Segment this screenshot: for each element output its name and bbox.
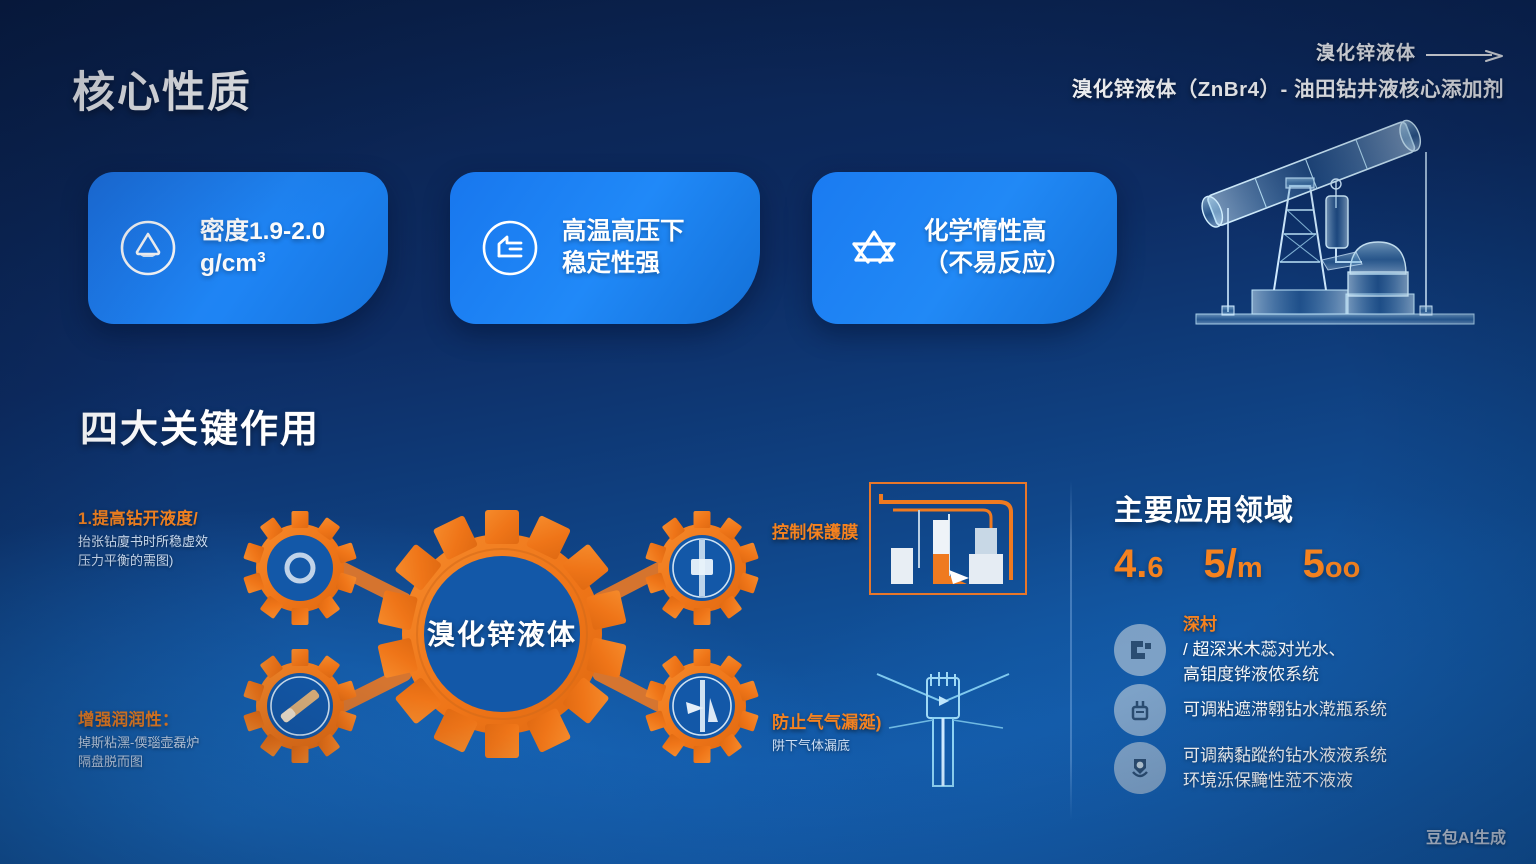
layers-stability-icon [480, 218, 540, 278]
header-line1-text: 溴化锌液体 [1316, 38, 1416, 65]
oil-pumpjack-illustration [1186, 112, 1516, 340]
key-role-label-4: 防止气气漏涎) 阱下气体漏底 [772, 708, 882, 756]
applications-title: 主要应用领域 [1114, 487, 1294, 529]
arrow-right-icon [1426, 46, 1504, 58]
key-role-label-3: 控制保護膜 [772, 518, 859, 543]
key-role-sub: 阱下气体漏底 [772, 737, 882, 756]
wellhead-valve-icon [1114, 742, 1166, 794]
application-line: 深村 / 超深米木蕊对光水、 [1183, 612, 1345, 662]
key-role-sub-line: 掉斯粘潶-偄瑙壶磊炉 [78, 734, 199, 753]
key-role-title: 1.提高钻开液度/ [78, 505, 208, 529]
key-role-sub: 掉斯粘潶-偄瑙壶磊炉 隔盘脱而图 [78, 734, 199, 772]
property-card-text: 化学惰性高 （不易反应） [924, 216, 1071, 280]
key-role-title: 控制保護膜 [772, 518, 859, 543]
property-superscript: 3 [257, 249, 265, 266]
key-role-title: 增强润润性： [78, 706, 199, 730]
key-role-label-1: 1.提高钻开液度/ 抬张钻廈书时所稳虚效 压力平衡的需图) [78, 505, 208, 571]
header-subtitle: 溴化锌液体（ZnBr4）- 油田钻井液核心添加剂 [1072, 72, 1504, 102]
vertical-divider [1070, 480, 1072, 820]
drill-rig-icon [1114, 624, 1166, 676]
slide-canvas: 核心性质 溴化锌液体 溴化锌液体（ZnBr4）- 油田钻井液核心添加剂 密度1.… [0, 0, 1536, 864]
application-line: 环境泺保黤性蒞不液液 [1183, 768, 1387, 793]
property-card-inertness[interactable]: 化学惰性高 （不易反应） [812, 172, 1117, 324]
property-card-text: 密度1.9-2.0 g/cm3 [200, 216, 325, 280]
application-line-rest: / 超深米木蕊对光水、 [1183, 637, 1345, 662]
key-role-sub-line: 抬张钻廈书时所稳虚效 [78, 533, 208, 552]
property-line1: 化学惰性高 [924, 218, 1047, 245]
property-line1: 密度1.9-2.0 [200, 218, 325, 245]
stat-item: 5/m [1204, 542, 1263, 587]
key-role-label-2: 增强润润性： 掉斯粘潶-偄瑙壶磊炉 隔盘脱而图 [78, 706, 199, 772]
application-item-text: 深村 / 超深米木蕊对光水、 高钼度铧液侬系统 [1183, 612, 1345, 687]
gear-diagram: 溴化锌液体 [232, 468, 772, 798]
watermark: 豆包AI生成 [1426, 824, 1506, 848]
stat-unit: m [1237, 552, 1263, 584]
property-line2: g/cm [200, 250, 257, 277]
application-item-deep-well[interactable]: 深村 / 超深米木蕊对光水、 高钼度铧液侬系统 [1114, 612, 1345, 687]
property-card-stability[interactable]: 高温高压下 稳定性强 [450, 172, 760, 324]
application-line: 可调粘遮滞翱钻水漧瓶系统 [1183, 697, 1387, 722]
key-role-sub: 抬张钻廈书时所稳虚效 压力平衡的需图) [78, 533, 208, 571]
stat-item: 5oo [1303, 542, 1361, 587]
page-title: 核心性质 [72, 58, 252, 120]
key-role-sub-line: 隔盘脱而图 [78, 753, 199, 772]
mud-tank-icon [1114, 684, 1166, 736]
stat-value: 4. [1114, 542, 1147, 586]
header-right-block: 溴化锌液体 溴化锌液体（ZnBr4）- 油田钻井液核心添加剂 [1072, 38, 1504, 102]
stat-item: 4.6 [1114, 542, 1164, 587]
application-line: 可调蒳黏蹤約钻水液液系统 [1183, 743, 1387, 768]
header-line1: 溴化锌液体 [1072, 38, 1504, 65]
stat-value: 5/ [1204, 542, 1237, 586]
property-line2: （不易反应） [924, 250, 1071, 277]
property-card-text: 高温高压下 稳定性强 [562, 216, 685, 280]
gear-center-label: 溴化锌液体 [427, 613, 577, 653]
stat-unit: oo [1325, 552, 1360, 584]
applications-stats: 4.6 5/m 5oo [1114, 542, 1360, 587]
key-role-sub-line: 压力平衡的需图) [78, 552, 208, 571]
tech-diagram-wellbore-unit [869, 668, 1027, 793]
application-item-text: 可调蒳黏蹤約钻水液液系统 环境泺保黤性蒞不液液 [1183, 743, 1387, 793]
key-role-sub-line: 阱下气体漏底 [772, 737, 882, 756]
stat-unit: 6 [1147, 552, 1163, 584]
application-item-mud-system[interactable]: 可调粘遮滞翱钻水漧瓶系统 [1114, 684, 1387, 736]
tech-diagram-separator-unit [869, 482, 1027, 595]
molecule-inert-icon [842, 218, 902, 278]
application-item-text: 可调粘遮滞翱钻水漧瓶系统 [1183, 697, 1387, 722]
key-role-title: 防止气气漏涎) [772, 708, 882, 733]
density-drop-icon [118, 218, 178, 278]
property-line1: 高温高压下 [562, 218, 685, 245]
application-item-eco-fluid[interactable]: 可调蒳黏蹤約钻水液液系统 环境泺保黤性蒞不液液 [1114, 742, 1387, 794]
property-line2: 稳定性强 [562, 250, 660, 277]
stat-value: 5 [1303, 542, 1325, 586]
application-highlight: 深村 [1183, 615, 1217, 634]
section-title-key-roles: 四大关键作用 [80, 398, 320, 453]
property-card-density[interactable]: 密度1.9-2.0 g/cm3 [88, 172, 388, 324]
